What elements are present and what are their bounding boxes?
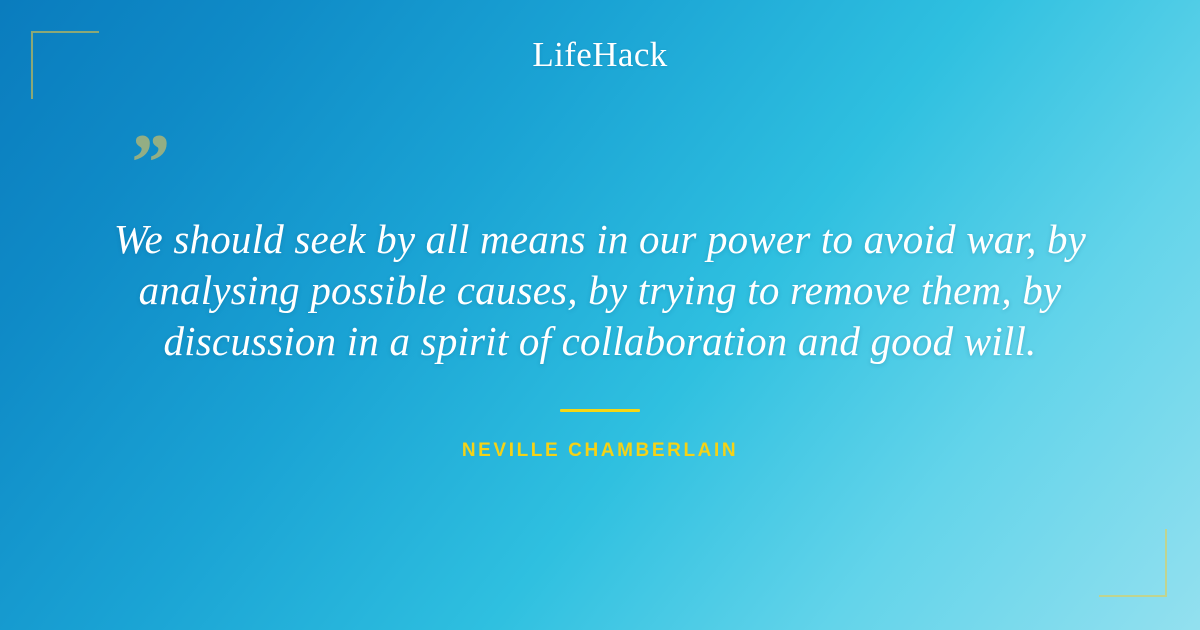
brand-logo: LifeHack xyxy=(0,36,1200,75)
quote-line-2: analysing possible causes, by trying to … xyxy=(95,265,1105,316)
quote-author: NEVILLE CHAMBERLAIN xyxy=(0,440,1200,462)
quote-line-3: discussion in a spirit of collaboration … xyxy=(95,316,1105,367)
corner-bracket-bottom-right-icon xyxy=(1099,529,1167,597)
divider-container xyxy=(0,409,1200,412)
quotation-mark-icon: ” xyxy=(127,122,166,204)
quote-text-block: We should seek by all means in our power… xyxy=(95,214,1105,367)
quote-line-1: We should seek by all means in our power… xyxy=(95,214,1105,265)
quote-card: LifeHack ” We should seek by all means i… xyxy=(0,0,1200,630)
attribution-divider xyxy=(560,409,640,412)
